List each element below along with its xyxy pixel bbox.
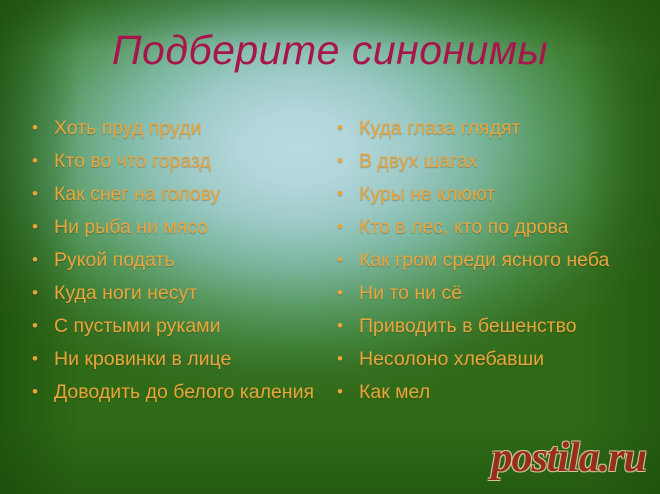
bullet-dot-icon: • <box>337 116 359 140</box>
list-item: •Хоть пруд пруди <box>32 116 322 140</box>
presentation-slide: Подберите синонимы •Хоть пруд пруди•Кто … <box>0 0 660 494</box>
list-item-label: Приводить в бешенство <box>359 314 637 338</box>
bullet-dot-icon: • <box>32 248 54 272</box>
bullet-dot-icon: • <box>32 347 54 371</box>
list-item: •Рукой подать <box>32 248 322 272</box>
list-item: •Несолоно хлебавши <box>337 347 637 371</box>
bullet-dot-icon: • <box>337 347 359 371</box>
list-item: •Куда ноги несут <box>32 281 322 305</box>
list-item-label: Куда ноги несут <box>54 281 322 305</box>
list-item-label: Кто во что горазд <box>54 149 322 173</box>
list-item-label: Куда глаза глядят <box>359 116 637 140</box>
list-item-label: В двух шагах <box>359 149 637 173</box>
page-title: Подберите синонимы <box>0 27 660 74</box>
list-item: •С пустыми руками <box>32 314 322 338</box>
list-item: •Кто в лес, кто по дрова <box>337 215 637 239</box>
list-item-label: Куры не клюют <box>359 182 637 206</box>
bullet-dot-icon: • <box>337 380 359 404</box>
list-item-label: Несолоно хлебавши <box>359 347 637 371</box>
bullet-dot-icon: • <box>337 248 359 272</box>
list-item-label: Рукой подать <box>54 248 322 272</box>
list-item: •Как снег на голову <box>32 182 322 206</box>
bullet-dot-icon: • <box>32 314 54 338</box>
synonyms-column-right: •Куда глаза глядят•В двух шагах•Куры не … <box>337 116 637 413</box>
list-item-label: Ни кровинки в лице <box>54 347 322 371</box>
synonyms-column-left: •Хоть пруд пруди•Кто во что горазд•Как с… <box>32 116 322 413</box>
list-item-label: Как снег на голову <box>54 182 322 206</box>
list-item-label: Доводить до белого каления <box>54 380 322 404</box>
bullet-dot-icon: • <box>337 314 359 338</box>
list-item: •Как мел <box>337 380 637 404</box>
list-item-label: Кто в лес, кто по дрова <box>359 215 637 239</box>
bullet-dot-icon: • <box>337 149 359 173</box>
bullet-dot-icon: • <box>32 281 54 305</box>
list-item-label: Как мел <box>359 380 637 404</box>
bullet-dot-icon: • <box>32 380 54 404</box>
bullet-dot-icon: • <box>337 182 359 206</box>
bullet-dot-icon: • <box>32 182 54 206</box>
list-item: •Как гром среди ясного неба <box>337 248 637 272</box>
list-item: •Куда глаза глядят <box>337 116 637 140</box>
watermark-postila: postila.ru <box>491 434 646 482</box>
list-item-label: Как гром среди ясного неба <box>359 248 637 272</box>
list-item: •Ни рыба ни мясо <box>32 215 322 239</box>
list-item-label: Хоть пруд пруди <box>54 116 322 140</box>
bullet-dot-icon: • <box>337 215 359 239</box>
bullet-dot-icon: • <box>32 116 54 140</box>
list-item: •Кто во что горазд <box>32 149 322 173</box>
list-item: •Ни кровинки в лице <box>32 347 322 371</box>
list-item: •Доводить до белого каления <box>32 380 322 404</box>
bullet-dot-icon: • <box>337 281 359 305</box>
list-item-label: С пустыми руками <box>54 314 322 338</box>
list-item: •Ни то ни сё <box>337 281 637 305</box>
list-item: •Приводить в бешенство <box>337 314 637 338</box>
bullet-dot-icon: • <box>32 215 54 239</box>
list-item: •В двух шагах <box>337 149 637 173</box>
list-item-label: Ни рыба ни мясо <box>54 215 322 239</box>
list-item: •Куры не клюют <box>337 182 637 206</box>
list-item-label: Ни то ни сё <box>359 281 637 305</box>
bullet-dot-icon: • <box>32 149 54 173</box>
